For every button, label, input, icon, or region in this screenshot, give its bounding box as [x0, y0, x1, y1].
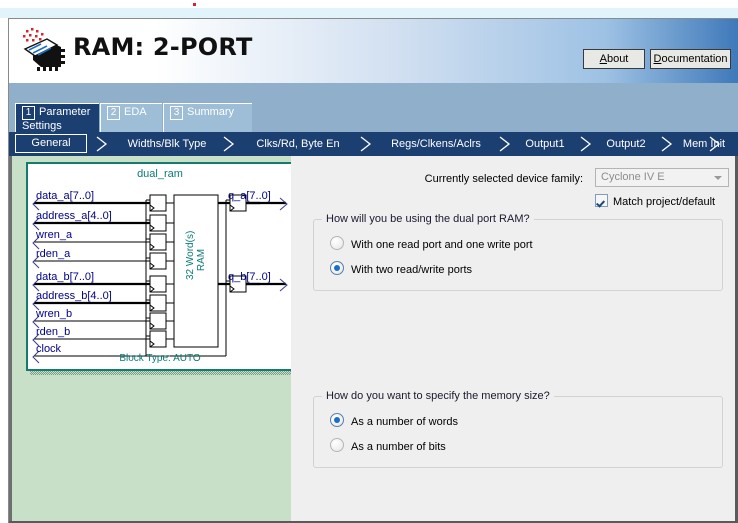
breadcrumb-output1[interactable]: Output1 — [512, 132, 578, 156]
tab-label-eda: EDA — [124, 106, 147, 118]
checkbox-checked-icon — [595, 194, 608, 207]
tab-number-2: 2 — [107, 106, 120, 120]
usage-group-title: How will you be using the dual port RAM? — [322, 213, 534, 225]
signal-label-wren-a: wren_a — [36, 229, 72, 241]
about-button-label: bout — [607, 53, 628, 65]
signal-label-rden-a: rden_a — [36, 248, 70, 260]
signal-label-address-b: address_b[4..0] — [36, 290, 112, 302]
chevron-right-icon-6 — [706, 135, 724, 153]
radio-on-icon-2 — [330, 413, 344, 427]
device-family-value: Cyclone IV E — [601, 171, 665, 183]
memsize-option-0-label: As a number of words — [351, 416, 458, 428]
about-button-mnemonic: A — [600, 53, 607, 65]
radio-off-icon-0 — [330, 236, 344, 250]
megawizard-window: RAM: 2-PORT About Documentation 1Paramet… — [8, 18, 738, 523]
chevron-down-icon — [714, 176, 722, 180]
signal-label-data-a: data_a[7..0] — [36, 190, 94, 202]
memsize-option-1-label: As a number of bits — [351, 441, 446, 453]
page-title: RAM: 2-PORT — [73, 33, 253, 61]
breadcrumb-widths-blk-type[interactable]: Widths/Blk Type — [112, 132, 222, 156]
radio-on-icon-1 — [330, 261, 344, 275]
diagram-block-type-footer: Block Type: AUTO — [28, 353, 292, 364]
usage-option-one-read-one-write[interactable]: With one read port and one write port — [330, 236, 533, 251]
device-family-select[interactable]: Cyclone IV E — [595, 168, 729, 187]
usage-group: How will you be using the dual port RAM?… — [313, 219, 723, 291]
breadcrumb: General Widths/Blk Type Clks/Rd, Byte En… — [9, 132, 738, 156]
about-button[interactable]: About — [583, 49, 645, 69]
ram-core-label: 32 Word(s) RAM — [185, 240, 207, 280]
red-dot-marker-icon — [193, 3, 196, 6]
tab-eda[interactable]: 2EDA — [100, 103, 162, 132]
memsize-option-bits[interactable]: As a number of bits — [330, 438, 446, 453]
signal-label-address-a: address_a[4..0] — [36, 210, 112, 222]
breadcrumb-regs-clkens-aclrs[interactable]: Regs/Clkens/Aclrs — [375, 132, 497, 156]
usage-option-0-label: With one read port and one write port — [351, 239, 533, 251]
documentation-button[interactable]: Documentation — [650, 49, 731, 69]
signal-label-rden-b: rden_b — [36, 326, 70, 338]
tab-summary[interactable]: 3Summary — [163, 103, 252, 132]
usage-option-1-label: With two read/write ports — [351, 264, 472, 276]
device-family-label: Currently selected device family: — [425, 173, 583, 185]
settings-pane: Currently selected device family: Cyclon… — [291, 156, 738, 523]
match-project-default-label: Match project/default — [613, 196, 715, 208]
application-window-root: RAM: 2-PORT About Documentation 1Paramet… — [0, 0, 738, 523]
memory-size-group-title: How do you want to specify the memory si… — [322, 390, 554, 402]
chevron-right-icon-0 — [93, 135, 111, 153]
signal-label-wren-b: wren_b — [36, 308, 72, 320]
desktop-light-band — [0, 8, 738, 18]
ram-block-diagram[interactable]: dual_ram — [26, 162, 294, 371]
symbol-preview-pane: dual_ram — [9, 156, 291, 523]
chevron-right-icon-1 — [220, 135, 238, 153]
wizard-tab-bar: 1Parameter Settings 2EDA 3Summary — [9, 83, 738, 132]
breadcrumb-mem-init[interactable]: Mem Init — [673, 132, 735, 156]
breadcrumb-output2[interactable]: Output2 — [593, 132, 659, 156]
memory-size-group: How do you want to specify the memory si… — [313, 396, 723, 468]
tab-label-summary: Summary — [187, 106, 234, 118]
breadcrumb-clks-rd-byte-en[interactable]: Clks/Rd, Byte En — [238, 132, 358, 156]
match-project-default-checkbox[interactable]: Match project/default — [595, 194, 715, 208]
signal-label-q-a: q_a[7..0] — [228, 190, 271, 202]
tab-parameter-settings[interactable]: 1Parameter Settings — [15, 103, 99, 132]
radio-off-icon-3 — [330, 438, 344, 452]
chevron-right-icon-2 — [357, 135, 375, 153]
usage-option-two-read-write[interactable]: With two read/write ports — [330, 261, 472, 276]
ram-core-label-words: 32 Word(s) — [185, 231, 196, 280]
tab-number-3: 3 — [170, 106, 183, 120]
title-banner: RAM: 2-PORT About Documentation — [9, 19, 738, 83]
tab-number-1: 1 — [22, 106, 35, 120]
altera-megawizard-chip-icon — [17, 27, 69, 73]
signal-label-q-b: q_b[7..0] — [228, 271, 271, 283]
documentation-button-label: ocumentation — [661, 53, 727, 65]
tab-bar-filler — [252, 103, 738, 132]
signal-label-data-b: data_b[7..0] — [36, 271, 94, 283]
ram-core-label-ram: RAM — [196, 249, 207, 271]
desktop-top-strip — [0, 0, 738, 18]
memsize-option-words[interactable]: As a number of words — [330, 413, 458, 428]
breadcrumb-general[interactable]: General — [15, 134, 87, 153]
